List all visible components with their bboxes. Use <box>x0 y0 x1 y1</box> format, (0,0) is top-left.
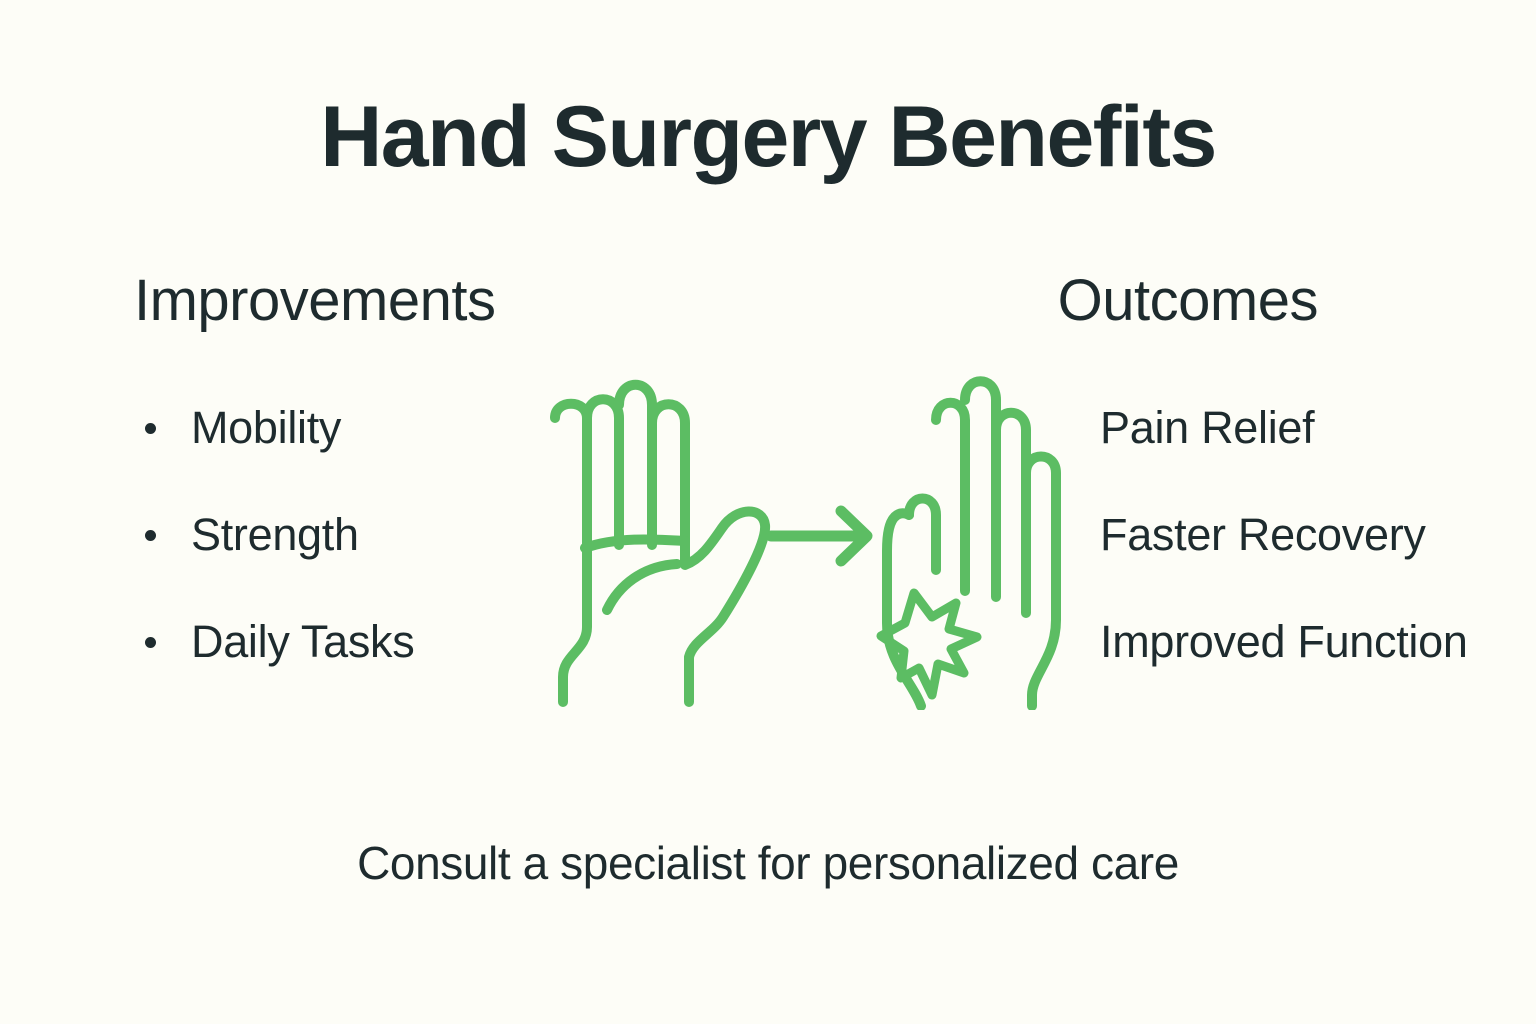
list-item: Daily Tasks <box>134 612 534 719</box>
improvements-heading: Improvements <box>134 272 495 330</box>
list-item: Mobility <box>134 398 534 505</box>
list-item: Pain Relief <box>1100 398 1530 505</box>
bullet-icon <box>145 423 156 434</box>
outcome-label: Improved Function <box>1100 616 1468 667</box>
infographic-canvas: Hand Surgery Benefits Improvements Outco… <box>0 0 1536 1024</box>
healed-hand-with-starburst-icon <box>881 381 1056 706</box>
list-item: Strength <box>134 505 534 612</box>
outcome-label: Faster Recovery <box>1100 509 1426 560</box>
page-title: Hand Surgery Benefits <box>0 92 1536 182</box>
illustration-svg <box>515 365 1115 710</box>
outcome-label: Pain Relief <box>1100 402 1314 453</box>
footer-note: Consult a specialist for personalized ca… <box>0 838 1536 889</box>
right-arrow-icon <box>771 511 867 561</box>
open-hand-icon <box>555 385 765 702</box>
hand-transformation-illustration <box>515 365 1115 710</box>
improvement-label: Daily Tasks <box>191 616 414 667</box>
outcomes-list: Pain Relief Faster Recovery Improved Fun… <box>1100 398 1530 719</box>
improvement-label: Mobility <box>191 402 341 453</box>
bullet-icon <box>145 530 156 541</box>
outcomes-heading: Outcomes <box>1058 272 1318 330</box>
list-item: Faster Recovery <box>1100 505 1530 612</box>
improvement-label: Strength <box>191 509 359 560</box>
bullet-icon <box>145 637 156 648</box>
list-item: Improved Function <box>1100 612 1530 719</box>
improvements-list: Mobility Strength Daily Tasks <box>134 398 534 719</box>
